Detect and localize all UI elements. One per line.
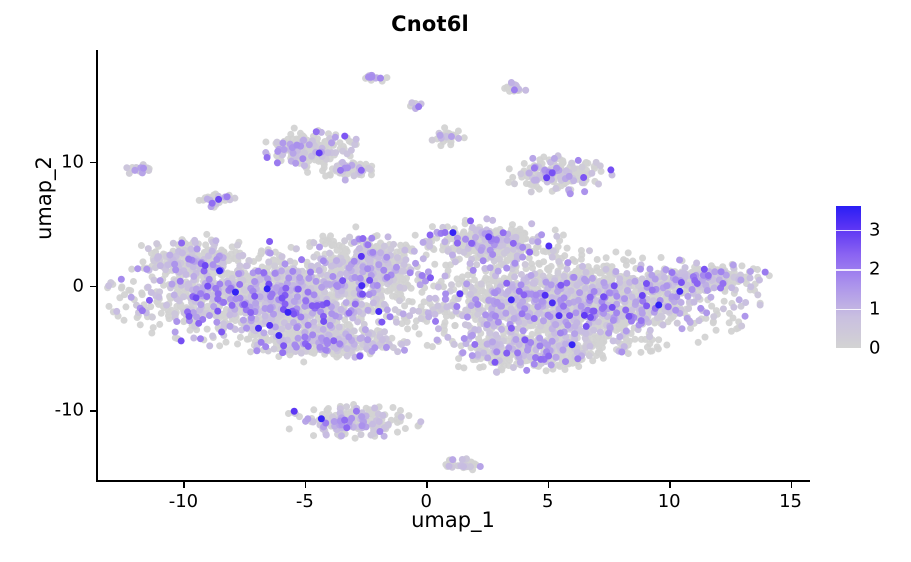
scatter-point-canvas — [96, 50, 810, 482]
umap-feature-plot: Cnot6l -10-5051015 100-10 umap_1 umap_2 … — [0, 0, 911, 562]
y-tick-mark — [90, 286, 96, 288]
colorbar: 0123 — [836, 206, 906, 348]
x-tick-mark — [426, 482, 428, 488]
colorbar-tick-label: 2 — [869, 259, 880, 280]
x-tick-mark — [183, 482, 185, 488]
plot-axes-area: -10-5051015 100-10 — [96, 50, 810, 482]
x-tick-mark — [669, 482, 671, 488]
colorbar-tick-label: 3 — [869, 219, 880, 240]
y-tick-mark — [90, 410, 96, 412]
page-title: Cnot6l — [0, 12, 860, 36]
y-tick-label: 10 — [61, 151, 84, 172]
colorbar-tick-mark — [836, 309, 861, 310]
colorbar-tick-label: 1 — [869, 298, 880, 319]
x-axis-label: umap_1 — [96, 508, 810, 532]
colorbar-tick-label: 0 — [869, 338, 880, 359]
y-axis-label: umap_2 — [32, 118, 56, 278]
y-tick-mark — [90, 162, 96, 164]
y-tick-label: 0 — [73, 275, 84, 296]
x-tick-mark — [305, 482, 307, 488]
colorbar-tick-mark — [836, 230, 861, 231]
x-tick-mark — [548, 482, 550, 488]
colorbar-gradient — [836, 206, 861, 348]
colorbar-tick-mark — [836, 269, 861, 270]
y-tick-label: -10 — [55, 400, 84, 421]
x-tick-mark — [791, 482, 793, 488]
